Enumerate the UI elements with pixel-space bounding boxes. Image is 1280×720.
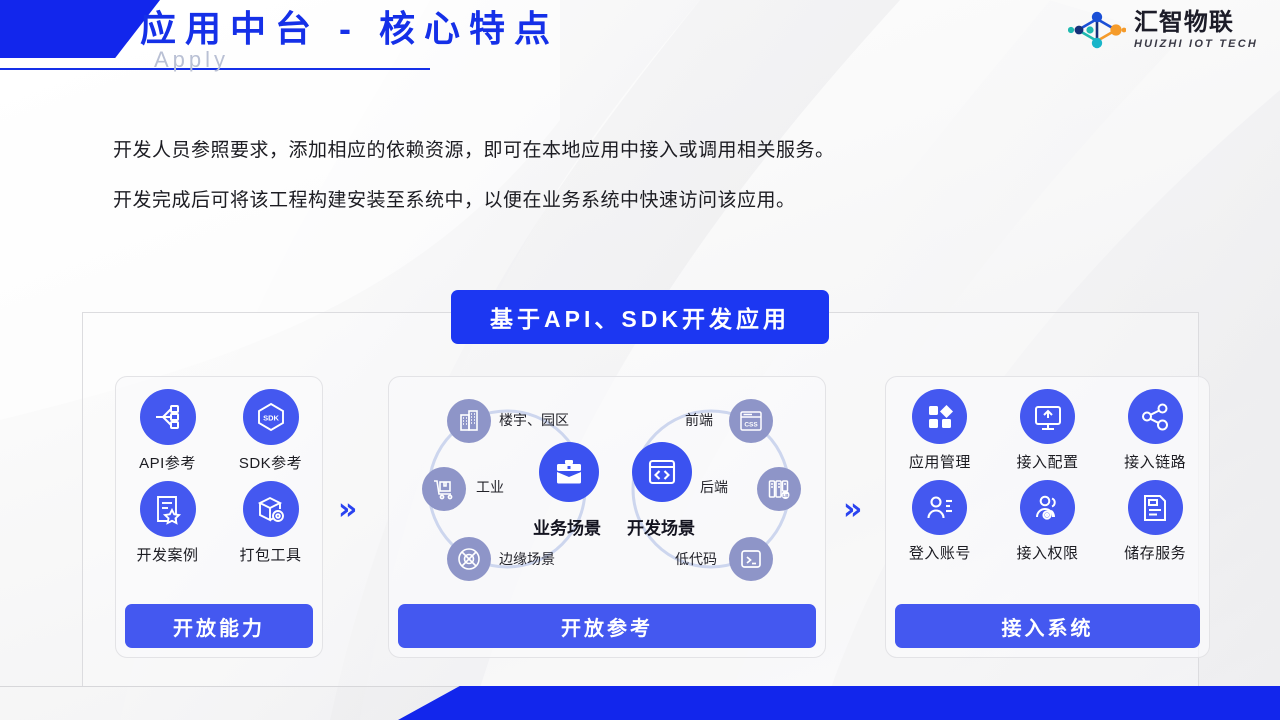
- satellite-label: 边缘场景: [499, 549, 555, 569]
- feature-label: 接入配置: [1016, 451, 1078, 472]
- feature-label: 开发案例: [136, 544, 198, 565]
- feature-label: 接入链路: [1124, 451, 1186, 472]
- feature-item-storage-service[interactable]: 储存服务: [1101, 480, 1209, 563]
- feature-item-access-link[interactable]: 接入链路: [1101, 389, 1209, 472]
- feature-item-dev-case[interactable]: 开发案例: [116, 481, 219, 565]
- hub-label: 业务场景: [533, 514, 601, 539]
- satellite-lowcode[interactable]: [729, 537, 773, 581]
- hub-development-scenario[interactable]: [632, 442, 692, 502]
- open-reference-label: 开放参考: [561, 612, 653, 641]
- satellite-label: 低代码: [675, 549, 717, 569]
- intro-paragraph-2: 开发完成后可将该工程构建安装至系统中，以便在业务系统中快速访问该应用。: [113, 186, 835, 216]
- svg-text:LB: LB: [783, 493, 790, 498]
- satellite-frontend[interactable]: CSS: [729, 399, 773, 443]
- header-accent-shape: [0, 0, 160, 58]
- satellite-label: 后端: [700, 477, 728, 497]
- satellite-label: 前端: [685, 410, 713, 430]
- satellite-building[interactable]: [447, 399, 491, 443]
- hub-business-scenario[interactable]: [539, 442, 599, 502]
- diagram-banner-label: 基于API、SDK开发应用: [490, 300, 790, 334]
- user-permission-icon: [1020, 480, 1075, 535]
- intro-paragraph-1: 开发人员参照要求，添加相应的依赖资源，即可在本地应用中接入或调用相关服务。: [113, 136, 835, 166]
- panel-access-system: 应用管理 接入配置 接入链路: [885, 376, 1210, 658]
- package-gear-icon: [243, 481, 299, 537]
- svg-text:CSS: CSS: [744, 422, 758, 429]
- logo-name-en: HUIZHI IOT TECH: [1134, 39, 1258, 50]
- access-system-button[interactable]: 接入系统: [895, 604, 1200, 648]
- page-subtitle: Apply: [154, 47, 229, 73]
- chevron-right-icon-1: »: [338, 492, 351, 527]
- feature-label: SDK参考: [239, 452, 302, 473]
- satellite-label: 工业: [476, 477, 504, 497]
- open-capability-label: 开放能力: [173, 612, 265, 641]
- left-icon-grid: API参考 SDK SDK参考 开发案例: [116, 389, 322, 573]
- open-reference-button[interactable]: 开放参考: [398, 604, 816, 648]
- right-icon-grid: 应用管理 接入配置 接入链路: [886, 389, 1209, 571]
- access-system-label: 接入系统: [1002, 612, 1094, 641]
- satellite-edge[interactable]: [447, 537, 491, 581]
- page-title: 应用中台 - 核心特点: [140, 6, 559, 52]
- feature-item-app-management[interactable]: 应用管理: [886, 389, 994, 472]
- feature-item-login-account[interactable]: 登入账号: [886, 480, 994, 563]
- sdk-cube-icon: SDK: [243, 389, 299, 445]
- feature-item-access-config[interactable]: 接入配置: [994, 389, 1102, 472]
- brand-logo: 汇智物联 HUIZHI IOT TECH: [1068, 10, 1258, 50]
- user-account-icon: [912, 480, 967, 535]
- feature-item-access-permission[interactable]: 接入权限: [994, 480, 1102, 563]
- panel-open-capability: API参考 SDK SDK参考 开发案例: [115, 376, 323, 658]
- feature-label: 接入权限: [1016, 542, 1078, 563]
- share-link-icon: [1128, 389, 1183, 444]
- hub-label: 开发场景: [627, 514, 695, 539]
- feature-item-package-tool[interactable]: 打包工具: [219, 481, 322, 565]
- logo-name-cn: 汇智物联: [1134, 11, 1258, 35]
- satellite-backend[interactable]: LB: [757, 467, 801, 511]
- feature-item-sdk[interactable]: SDK SDK参考: [219, 389, 322, 473]
- api-branch-icon: [140, 389, 196, 445]
- diagram-banner: 基于API、SDK开发应用: [451, 290, 829, 344]
- molecule-network-icon: [1068, 10, 1126, 50]
- monitor-config-icon: [1020, 389, 1075, 444]
- intro-paragraphs: 开发人员参照要求，添加相应的依赖资源，即可在本地应用中接入或调用相关服务。 开发…: [113, 136, 835, 236]
- footer-accent-shape: [398, 686, 1280, 720]
- satellite-label: 楼宇、园区: [499, 410, 569, 430]
- feature-label: 登入账号: [909, 542, 971, 563]
- feature-item-api[interactable]: API参考: [116, 389, 219, 473]
- feature-label: 应用管理: [909, 451, 971, 472]
- svg-text:SDK: SDK: [263, 414, 279, 423]
- satellite-industrial[interactable]: [422, 467, 466, 511]
- feature-label: 打包工具: [239, 544, 301, 565]
- document-star-icon: [140, 481, 196, 537]
- grid-apps-icon: [912, 389, 967, 444]
- chevron-right-icon-2: »: [843, 492, 856, 527]
- feature-label: API参考: [139, 452, 196, 473]
- panel-open-reference: 楼宇、园区 工业 边缘场景 业务场景 CSS 前端: [388, 376, 826, 658]
- storage-document-icon: [1128, 480, 1183, 535]
- open-capability-button[interactable]: 开放能力: [125, 604, 313, 648]
- title-block: 应用中台 - 核心特点 Apply: [140, 6, 559, 52]
- feature-label: 储存服务: [1124, 542, 1186, 563]
